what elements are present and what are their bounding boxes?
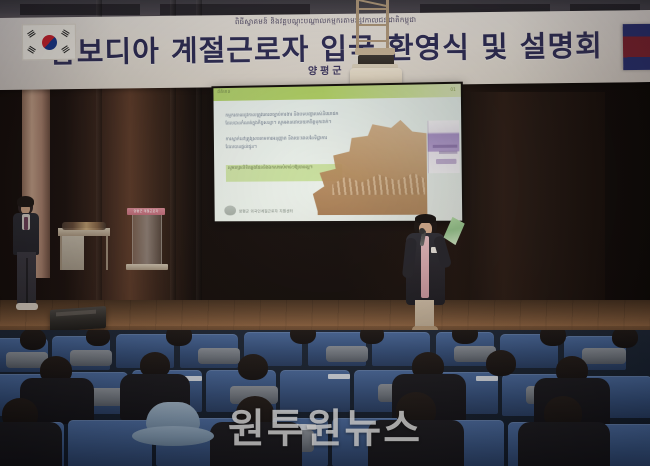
person-leg-split bbox=[26, 258, 28, 304]
seat-back bbox=[70, 350, 112, 366]
slide-text-line: ដែលបានផ្ដល់ជូន។ bbox=[226, 145, 257, 152]
trigram bbox=[61, 45, 70, 53]
acrylic-podium bbox=[132, 211, 162, 270]
cambodian-flag-icon bbox=[623, 24, 650, 70]
ceiling-slat bbox=[20, 4, 140, 15]
presentation-slide: ព័ត៌មាន 01 កម្មករតាមរដូវកាលត្រូវគោរពច្បា… bbox=[213, 84, 462, 222]
slide-footer-logo-text: 양평군 외국인계절근로자 지원센터 bbox=[239, 209, 293, 214]
table-leg bbox=[106, 236, 108, 270]
slide-card-button bbox=[436, 159, 457, 164]
audience-head bbox=[360, 330, 384, 344]
trigram bbox=[61, 29, 70, 37]
person-scarf bbox=[24, 217, 28, 230]
audience-head bbox=[86, 330, 110, 346]
audience-shoulders bbox=[368, 420, 464, 466]
seat-number-tag bbox=[328, 374, 350, 379]
projection-screen: ព័ត៌មាន 01 កម្មករតាមរដូវកាលត្រូវគោរពច្បា… bbox=[211, 82, 464, 224]
audience-area bbox=[0, 330, 650, 466]
hat-brim bbox=[132, 426, 214, 446]
audience-shoulders bbox=[0, 422, 62, 466]
korean-flag-icon bbox=[22, 24, 76, 61]
slide-card-line bbox=[433, 145, 458, 148]
seat-back bbox=[326, 346, 368, 362]
audience-shoulders bbox=[210, 422, 302, 466]
presenter-fringe bbox=[415, 214, 436, 223]
microphone-head-icon bbox=[419, 228, 425, 234]
audience-bucket-hat bbox=[132, 402, 214, 446]
slide-footer-logo-icon bbox=[224, 205, 236, 215]
trigram bbox=[27, 46, 36, 54]
seat-back bbox=[198, 348, 240, 364]
audience-head bbox=[166, 330, 192, 346]
taeguk-symbol bbox=[41, 34, 56, 49]
audience-head bbox=[238, 354, 268, 380]
seat-back bbox=[582, 348, 626, 364]
seat-number-tag bbox=[476, 376, 498, 381]
news-photo: ពិធីស្វាគមន៍ និងវគ្គបណ្ដុះបណ្ដាលកម្មករតា… bbox=[0, 0, 650, 466]
audience-head bbox=[612, 330, 638, 348]
stage-curtain-right bbox=[470, 92, 605, 332]
slide-text-line: ការស្នាក់នៅត្រូវស្របតាមការអនុញ្ញាត និងរយ… bbox=[226, 136, 328, 144]
ceiling-slat bbox=[160, 4, 310, 15]
projector-arm bbox=[355, 48, 395, 55]
audience-head bbox=[540, 330, 566, 346]
trigram bbox=[27, 30, 36, 38]
slide-text-line: ដែលបានកំណត់ក្នុងកិច្ចសន្យា។ សូមអានដោយយកច… bbox=[225, 120, 331, 128]
podium-sign-text: 양평군 계절근로자 bbox=[130, 209, 162, 213]
event-banner: ពិធីស្វាគមន៍ និងវគ្គបណ្ដុះបណ្ដាលកម្មករតា… bbox=[0, 10, 650, 90]
table-cloth bbox=[62, 236, 84, 270]
person-shoes bbox=[16, 303, 38, 310]
slide-header-label: ព័ត៌មាន bbox=[217, 90, 230, 96]
projector-bracket bbox=[352, 0, 396, 52]
audience-head bbox=[20, 330, 46, 350]
slide-header-number: 01 bbox=[450, 87, 455, 92]
person-hair bbox=[17, 196, 34, 207]
audience-shoulders bbox=[518, 422, 610, 466]
table-items bbox=[62, 222, 106, 230]
podium-base bbox=[126, 264, 168, 270]
audience-head bbox=[486, 350, 516, 376]
slide-card-line bbox=[439, 151, 457, 154]
banner-lighting-shade bbox=[0, 10, 650, 90]
